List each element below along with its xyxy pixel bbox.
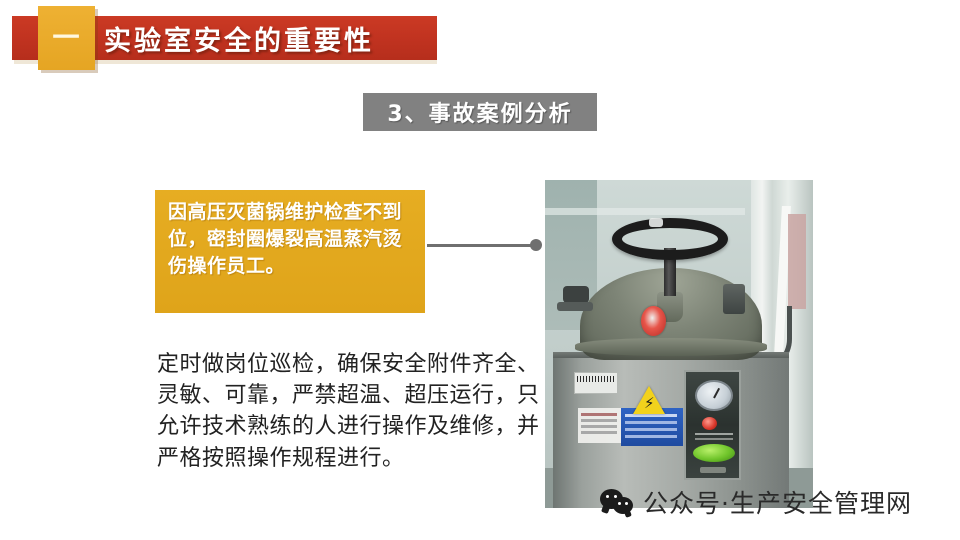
lightning-bolt-icon: ⚡ <box>644 396 655 411</box>
barcode-stripes <box>577 376 615 382</box>
header-section-number-box: 一 <box>38 6 95 70</box>
autoclave-photo: ⚡ <box>545 180 813 508</box>
body-paragraph-text: 定时做岗位巡检，确保安全附件齐全、灵敏、可靠，严禁超温、超压运行，只允许技术熟练… <box>157 349 547 474</box>
callout-connector-line <box>427 244 535 247</box>
photo-wall-highlight-band <box>545 208 745 215</box>
red-seal-sticker <box>641 306 666 336</box>
red-indicator-light <box>702 417 717 430</box>
callout-text: 因高压灭菌锅维护检查不到位，密封圈爆裂高温蒸汽烫伤操作员工。 <box>168 199 413 280</box>
panel-bottom-slot <box>700 467 726 473</box>
panel-label-lines <box>695 433 733 435</box>
autoclave-left-latch-arm <box>557 302 593 311</box>
pressure-gauge-icon <box>695 380 733 411</box>
callout-box: 因高压灭菌锅维护检查不到位，密封圈爆裂高温蒸汽烫伤操作员工。 <box>155 190 425 313</box>
gauge-needle <box>713 388 720 399</box>
white-spec-label <box>578 408 621 443</box>
handwheel-icon <box>612 218 728 260</box>
autoclave-right-latch <box>723 284 745 314</box>
section-title-box: 3、事故案例分析 <box>363 93 597 131</box>
blue-label-lines <box>625 414 677 417</box>
slide-canvas: 一 实验室安全的重要性 3、事故案例分析 因高压灭菌锅维护检查不到位，密封圈爆裂… <box>0 0 960 540</box>
autoclave-lid-ring <box>575 338 767 356</box>
white-label-lines <box>581 413 617 416</box>
handwheel-highlight <box>649 218 663 227</box>
section-title: 3、事故案例分析 <box>387 96 572 128</box>
control-panel <box>684 370 741 480</box>
autoclave-left-latch <box>563 286 589 303</box>
photo-door-pink-reflection <box>788 214 806 309</box>
page-title: 实验室安全的重要性 <box>104 16 374 60</box>
green-power-button <box>693 444 735 462</box>
connector-endpoint-dot <box>530 239 542 251</box>
barcode-label <box>574 372 618 394</box>
body-paragraph: 定时做岗位巡检，确保安全附件齐全、灵敏、可靠，严禁超温、超压运行，只允许技术熟练… <box>157 349 547 474</box>
header-section-number: 一 <box>53 25 81 52</box>
